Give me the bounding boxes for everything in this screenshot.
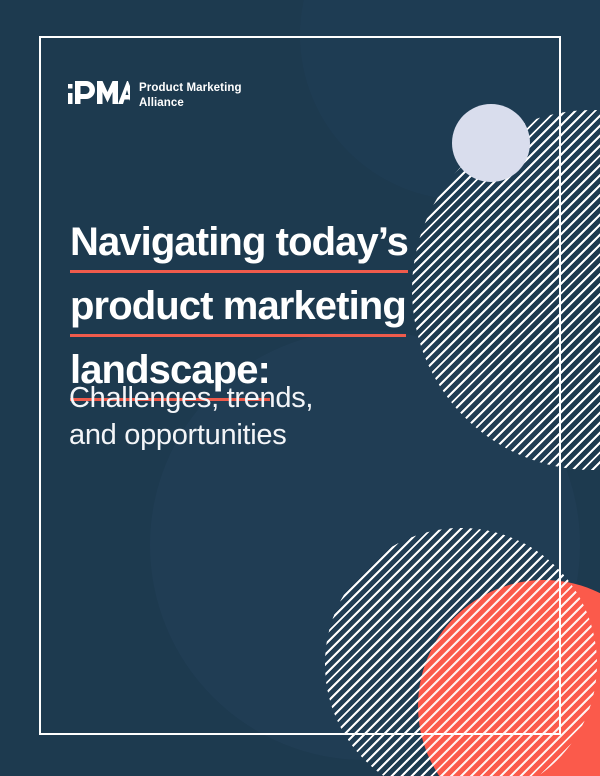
title-line-2: product marketing (70, 286, 406, 337)
pma-wordmark: Product Marketing Alliance (139, 81, 242, 110)
pma-monogram-icon (68, 78, 130, 113)
pma-logo[interactable]: Product Marketing Alliance (68, 78, 242, 113)
document-cover-page: Product Marketing Alliance Navigating to… (0, 0, 600, 776)
title-line-1: Navigating today’s (70, 222, 408, 273)
cover-content: Product Marketing Alliance Navigating to… (0, 0, 600, 776)
cover-subtitle: Challenges, trends, and opportunities (69, 380, 469, 454)
